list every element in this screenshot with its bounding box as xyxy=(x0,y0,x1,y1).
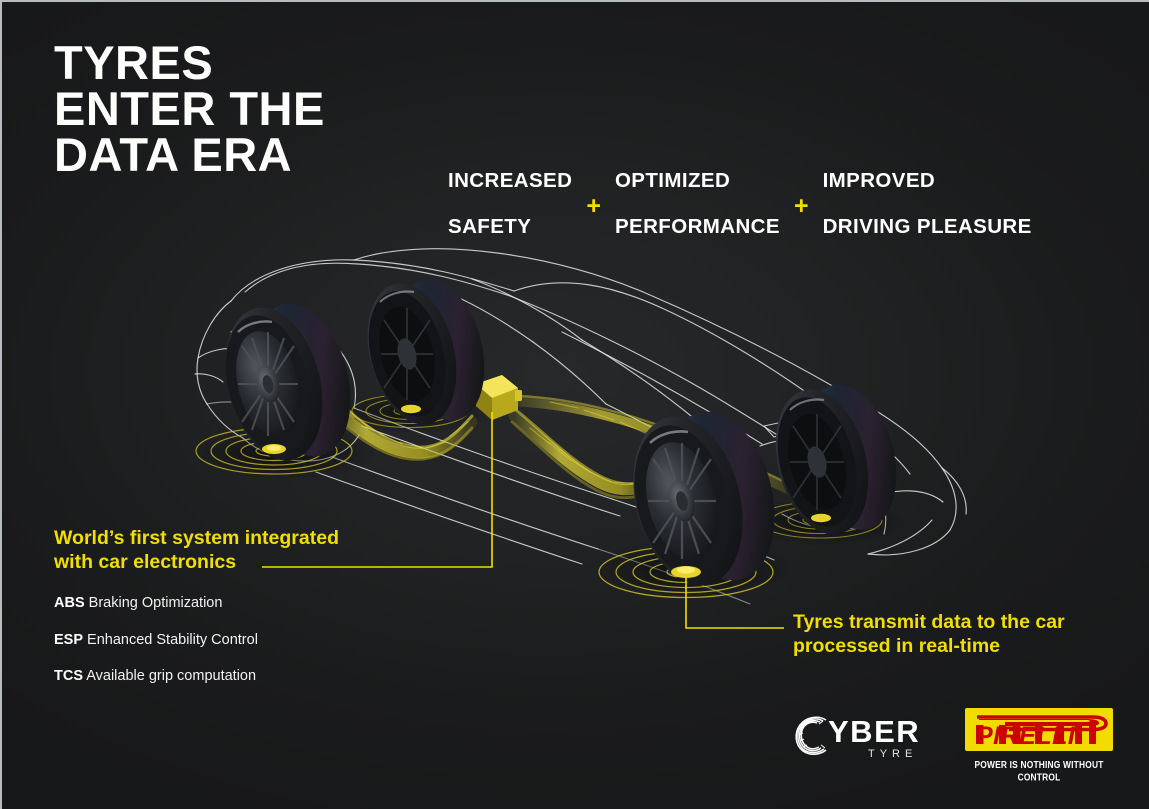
feature-abs: ABS Braking Optimization xyxy=(54,596,404,611)
tyre-front-left xyxy=(210,293,365,471)
signal-ripples-rear-right xyxy=(758,502,882,538)
feature-esp: ESP Enhanced Stability Control xyxy=(54,633,404,648)
callout-right-line-1: Tyres transmit data to the car xyxy=(793,610,1113,634)
feature-tcs: TCS Available grip computation xyxy=(54,669,404,684)
signal-ripples-front-right xyxy=(352,395,468,428)
tyre-sensor xyxy=(671,566,701,578)
benefit-line-1: INCREASED xyxy=(448,169,572,192)
feature-abbr: TCS xyxy=(54,668,83,684)
feature-abbr: ESP xyxy=(54,632,83,648)
tyre-rear-left xyxy=(617,400,792,597)
tyre-sensor xyxy=(262,444,286,454)
benefit-increased-safety: INCREASED SAFETY xyxy=(448,146,572,262)
wheel-shadow xyxy=(332,390,496,434)
tyre-sensor xyxy=(811,514,831,522)
feature-desc: Available grip computation xyxy=(86,668,256,684)
callout-right: Tyres transmit data to the car processed… xyxy=(793,610,1113,659)
feature-abbr: ABS xyxy=(54,595,85,611)
feature-desc: Enhanced Stability Control xyxy=(87,632,258,648)
leader-line-right xyxy=(686,578,784,628)
pirelli-logo: PIRELLI POWER IS NOTHING WITHOUT CONTROL xyxy=(965,708,1113,778)
feature-list: ABS Braking Optimization ESP Enhanced St… xyxy=(54,596,404,684)
wheel-shadow xyxy=(734,498,910,546)
title-line-1: TYRES xyxy=(54,40,325,86)
callout-left-headline-line-2: with car electronics xyxy=(54,550,404,574)
callout-left: World’s first system integrated with car… xyxy=(54,526,404,706)
plus-separator-icon: + xyxy=(794,192,809,221)
benefit-optimized-performance: OPTIMIZED PERFORMANCE xyxy=(615,146,780,262)
data-flow-streams xyxy=(316,328,802,498)
callout-right-line-2: processed in real-time xyxy=(793,634,1113,658)
cyber-tyre-wordmark: YBER xyxy=(828,716,920,747)
benefit-line-1: OPTIMIZED xyxy=(615,169,780,192)
infographic-poster: TYRES ENTER THE DATA ERA INCREASED SAFET… xyxy=(0,0,1149,809)
benefit-improved-driving-pleasure: IMPROVED DRIVING PLEASURE xyxy=(823,146,1032,262)
benefit-line-1: IMPROVED xyxy=(823,169,1032,192)
page-title: TYRES ENTER THE DATA ERA xyxy=(54,40,325,178)
benefit-line-2: SAFETY xyxy=(448,215,572,238)
pirelli-logo-box: PIRELLI xyxy=(965,708,1113,751)
tyre-sensor xyxy=(401,405,421,413)
benefit-line-2: DRIVING PLEASURE xyxy=(823,215,1032,238)
tyre-front-right xyxy=(354,270,498,434)
pirelli-wordmark-icon: PIRELLI xyxy=(965,708,1113,751)
cyber-tyre-logo: YBER TYRE xyxy=(792,708,932,768)
cyber-tyre-subtitle: TYRE xyxy=(868,749,917,760)
tyre-rear-right xyxy=(761,375,910,545)
wheel-shadow xyxy=(193,428,377,480)
benefit-line-2: PERFORMANCE xyxy=(615,215,780,238)
signal-ripples-front-left xyxy=(196,428,352,474)
plus-separator-icon: + xyxy=(586,192,601,221)
ecu-module xyxy=(476,375,522,420)
callout-left-headline: World’s first system integrated with car… xyxy=(54,526,404,574)
benefits-row: INCREASED SAFETY + OPTIMIZED PERFORMANCE… xyxy=(448,146,1032,262)
feature-desc: Braking Optimization xyxy=(89,595,223,611)
callout-left-headline-line-1: World’s first system integrated xyxy=(54,526,404,550)
signal-ripples-rear-left xyxy=(599,547,773,598)
wheel-shadow xyxy=(590,538,798,598)
pirelli-tagline: POWER IS NOTHING WITHOUT CONTROL xyxy=(965,758,1113,783)
logo-row: YBER TYRE PIRELLI xyxy=(792,708,1113,778)
title-line-2: ENTER THE xyxy=(54,86,325,132)
title-line-3: DATA ERA xyxy=(54,132,325,178)
